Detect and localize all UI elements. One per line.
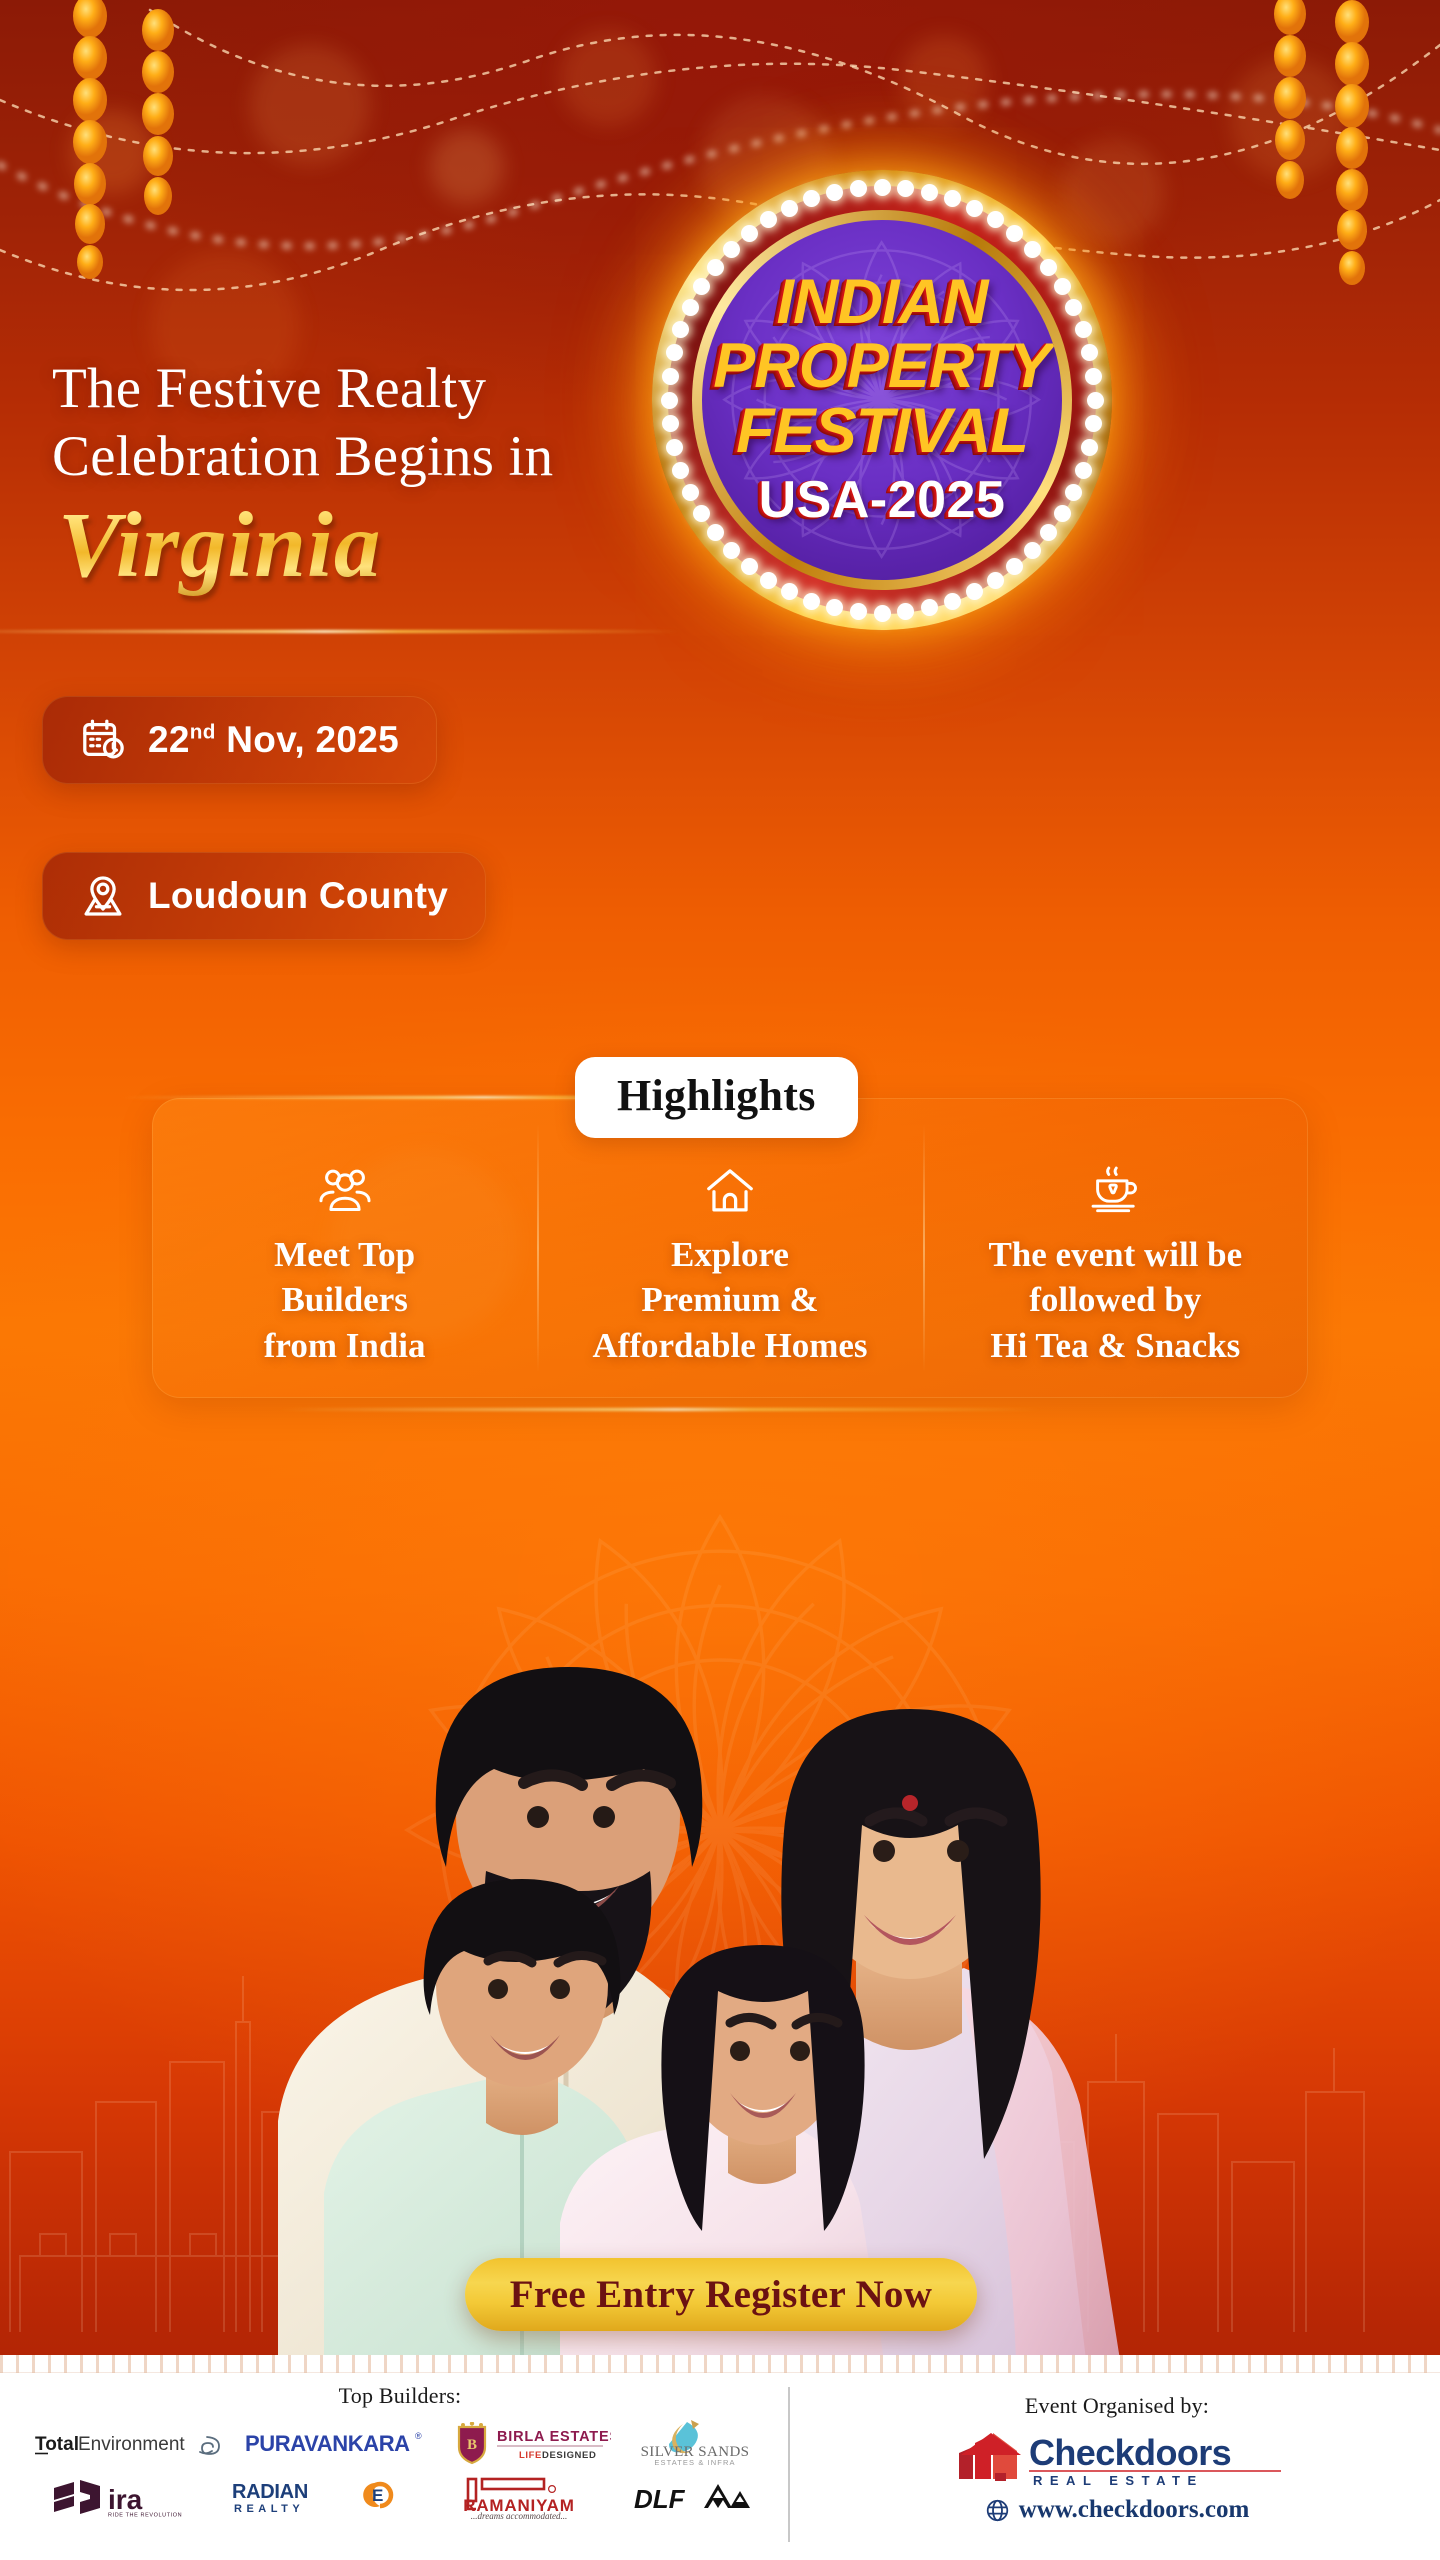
date-rest: Nov, 2025 (216, 719, 399, 760)
svg-text:®: ® (415, 2431, 422, 2441)
logo-checkdoors[interactable]: Checkdoors REAL ESTATE (951, 2427, 1283, 2489)
checkdoors-website[interactable]: www.checkdoors.com (985, 2496, 1250, 2524)
svg-text:Checkdoors: Checkdoors (1029, 2432, 1231, 2473)
badge-bulb (1065, 299, 1082, 316)
highlights-label: Highlights (575, 1057, 858, 1138)
event-location-pill[interactable]: Loudoun County (42, 852, 486, 940)
svg-text:RIDE THE REVOLUTION: RIDE THE REVOLUTION (108, 2513, 182, 2519)
svg-text:...dreams accommodated...: ...dreams accommodated... (471, 2511, 567, 2521)
logo-ira[interactable]: ira RIDE THE REVOLUTION (46, 2478, 196, 2518)
badge-bulb (921, 184, 938, 201)
svg-text:B: B (467, 2437, 477, 2453)
badge-purple-disc: INDIAN PROPERTY FESTIVAL USA-2025 (702, 220, 1062, 580)
badge-bulb (803, 190, 820, 207)
badge-line-usa-year: USA-2025 (702, 473, 1062, 528)
globe-icon (985, 2498, 1010, 2523)
badge-bulb (874, 179, 891, 196)
logo-ramaniyam[interactable]: RAMANIYAM ...dreams accommodated... (440, 2475, 598, 2521)
svg-text:DESIGNED: DESIGNED (542, 2450, 596, 2461)
event-date-text: 22nd Nov, 2025 (148, 719, 399, 761)
badge-bulb (944, 593, 961, 610)
svg-text:Environment: Environment (78, 2434, 185, 2455)
svg-text:PURAVANKARA: PURAVANKARA (245, 2431, 410, 2456)
badge-line-festival: FESTIVAL (702, 400, 1062, 463)
badge-bulb (781, 200, 798, 217)
map-pin-icon (80, 873, 126, 919)
svg-text:DLF: DLF (634, 2484, 686, 2514)
badge-bulb (1081, 439, 1098, 456)
builders-logo-row-1: Total Environment PURAVANKARA (28, 2417, 772, 2471)
svg-text:ira: ira (108, 2484, 143, 2515)
event-organiser-section: Event Organised by: Checkdoors REAL ESTA… (788, 2387, 1440, 2542)
svg-text:LIFE: LIFE (519, 2450, 542, 2461)
logo-dlf[interactable]: DLF (634, 2480, 754, 2516)
register-button[interactable]: Free Entry Register Now (465, 2258, 977, 2331)
headline-glow (0, 630, 680, 633)
badge-bulb (682, 299, 699, 316)
badge-bulb (662, 415, 679, 432)
highlight-2-line-1: Explore (592, 1232, 867, 1278)
builders-logo-row-2: ira RIDE THE REVOLUTION RADIAN E REALTY (28, 2471, 772, 2525)
badge-bulb (1075, 462, 1092, 479)
footer: Top Builders: Total Environment (0, 2355, 1440, 2560)
badge-bulb (803, 593, 820, 610)
badge-bulb (661, 392, 678, 409)
badge-bulb (1087, 392, 1104, 409)
family-photo (168, 1275, 1298, 2360)
badge-bulb (662, 368, 679, 385)
svg-text:E: E (372, 2486, 383, 2505)
svg-text:BIRLA ESTATES: BIRLA ESTATES (497, 2429, 611, 2445)
badge-line-property: PROPERTY (702, 335, 1062, 398)
badge-bulb (850, 603, 867, 620)
logo-silver-sands[interactable]: SILVER SANDS ESTATES & INFRA (625, 2420, 765, 2468)
badge-bulb (921, 599, 938, 616)
checkdoors-house-icon (959, 2433, 1021, 2481)
badge-bulb (1085, 368, 1102, 385)
checkdoors-url-text: www.checkdoors.com (1019, 2496, 1250, 2524)
badge-bulb (850, 180, 867, 197)
date-ordinal: nd (190, 721, 216, 744)
people-group-icon (316, 1164, 374, 1216)
highlight-3-line-1: The event will be (988, 1232, 1242, 1278)
logo-totalenvironment[interactable]: Total Environment (35, 2429, 231, 2459)
badge-bulb (682, 484, 699, 501)
logo-puravankara[interactable]: PURAVANKARA ® (245, 2429, 429, 2459)
badge-bulb (826, 184, 843, 201)
svg-text:RADIAN: RADIAN (232, 2481, 308, 2503)
highlight-1-line-1: Meet Top (264, 1232, 426, 1278)
logo-radiance-realty[interactable]: RADIAN E REALTY (232, 2478, 404, 2518)
festival-poster: The Festive Realty Celebration Begins in… (0, 0, 1440, 2560)
badge-bulb (874, 605, 891, 622)
badge-bulb (672, 462, 689, 479)
footer-decorative-strip (0, 2355, 1440, 2373)
tea-cup-icon (1086, 1164, 1144, 1216)
event-date-pill[interactable]: 22nd Nov, 2025 (42, 696, 437, 784)
festival-badge: INDIAN PROPERTY FESTIVAL USA-2025 (652, 170, 1112, 630)
date-day: 22 (148, 719, 190, 760)
home-icon (701, 1164, 759, 1216)
badge-bulb (666, 344, 683, 361)
badge-bulb (672, 321, 689, 338)
state-name: Virginia (58, 492, 381, 599)
badge-bulb (944, 190, 961, 207)
svg-text:Total: Total (35, 2434, 79, 2455)
badge-bulb (781, 583, 798, 600)
badge-bulb (666, 439, 683, 456)
event-organiser-label: Event Organised by: (1025, 2393, 1209, 2419)
event-location-text: Loudoun County (148, 875, 448, 917)
calendar-clock-icon (80, 717, 126, 763)
badge-bulb (966, 200, 983, 217)
badge-line-indian: INDIAN (702, 272, 1062, 333)
top-builders-section: Top Builders: Total Environment (0, 2373, 788, 2560)
svg-text:ESTATES & INFRA: ESTATES & INFRA (654, 2458, 735, 2467)
logo-birla-estates[interactable]: B BIRLA ESTATES LIFE DESIGNED (443, 2422, 611, 2466)
badge-bulb (1075, 321, 1092, 338)
svg-text:REALTY: REALTY (234, 2503, 304, 2515)
svg-text:REAL ESTATE: REAL ESTATE (1033, 2473, 1204, 2488)
top-builders-label: Top Builders: (28, 2383, 772, 2409)
badge-bulb (897, 180, 914, 197)
